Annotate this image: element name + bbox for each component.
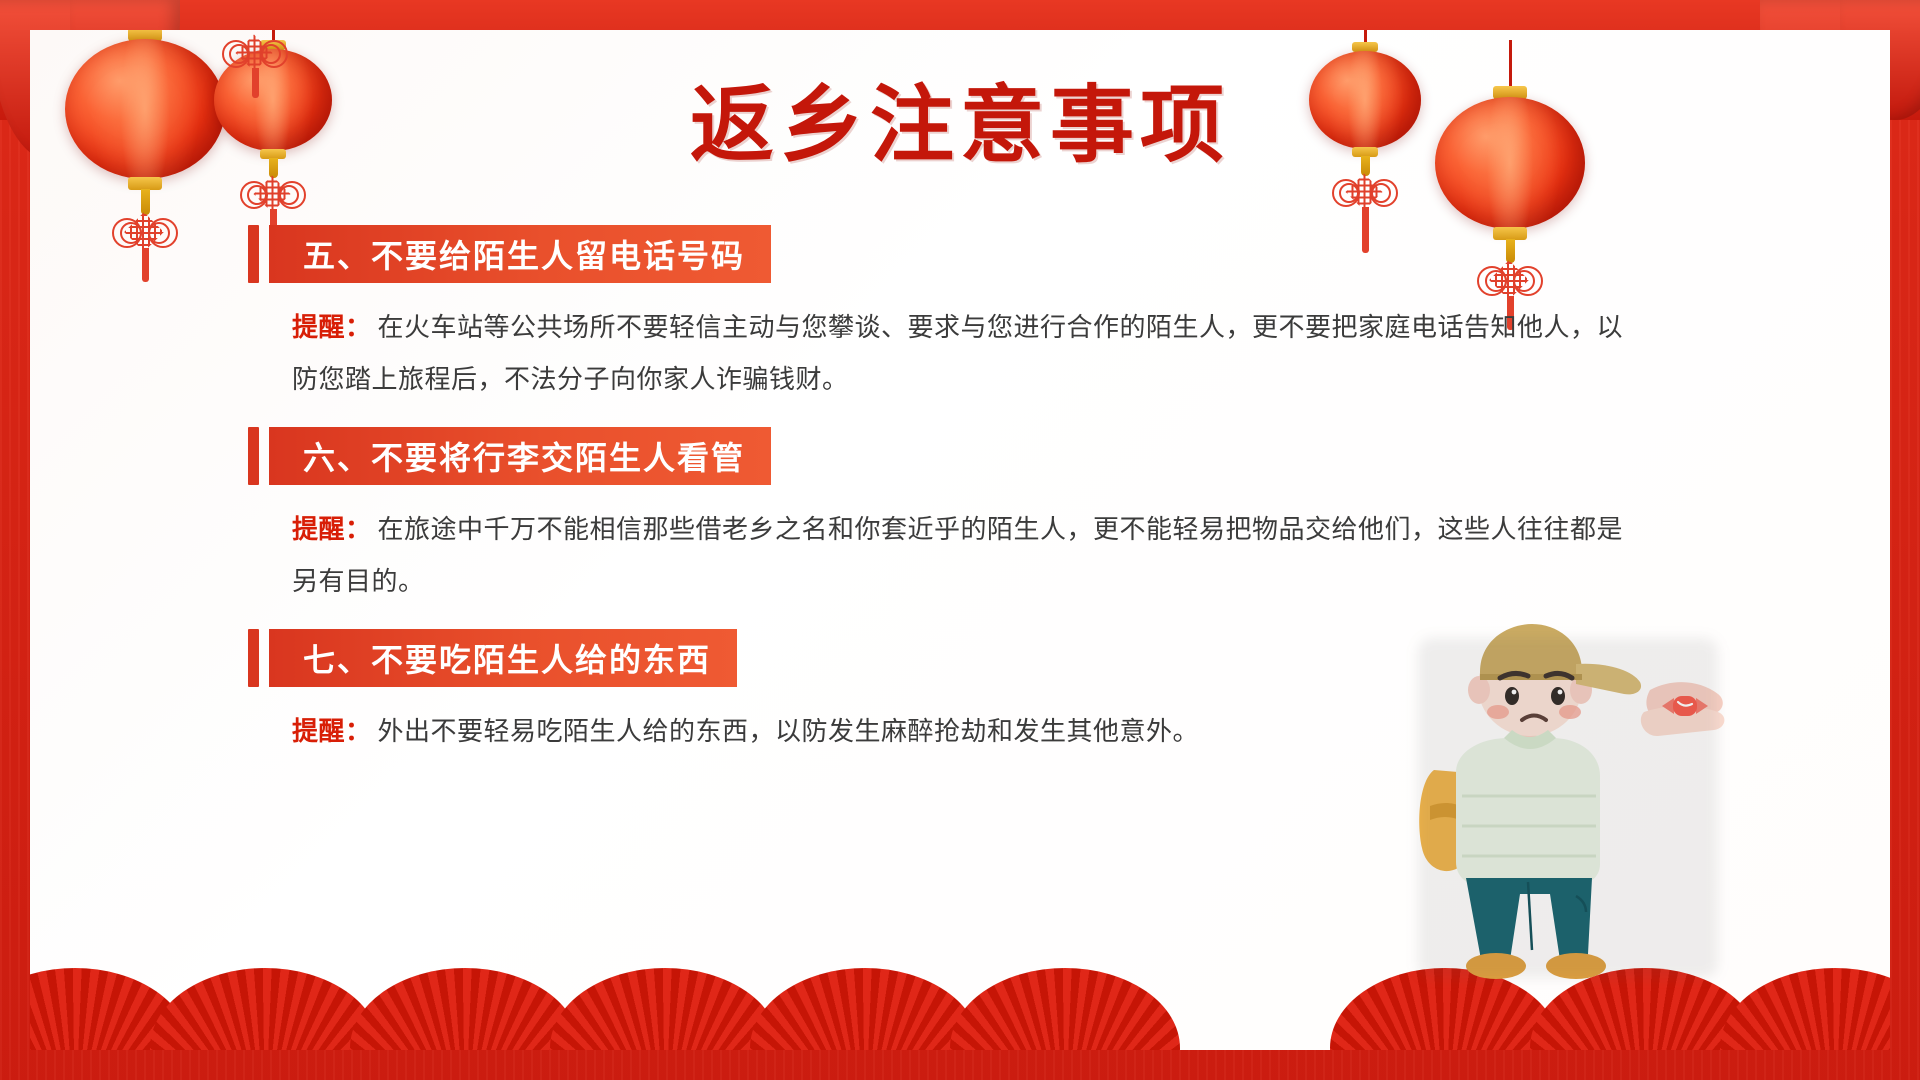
paper-fan-icon (150, 968, 380, 1050)
section-body: 提醒：在旅途中千万不能相信那些借老乡之名和你套近乎的陌生人，更不能轻易把物品交给… (292, 503, 1632, 607)
section-heading-text: 七、不要吃陌生人给的东西 (269, 629, 737, 687)
paper-fan-icon (950, 968, 1180, 1050)
tip-body-text: 外出不要轻易吃陌生人给的东西，以防发生麻醉抢劫和发生其他意外。 (378, 716, 1200, 746)
tip-body-text: 在旅途中千万不能相信那些借老乡之名和你套近乎的陌生人，更不能轻易把物品交给他们，… (292, 514, 1623, 596)
section-item: 六、不要将行李交陌生人看管 提醒：在旅途中千万不能相信那些借老乡之名和你套近乎的… (248, 427, 1668, 607)
heading-tick-mark (248, 225, 259, 283)
heading-tick-mark (248, 629, 259, 687)
paper-fan-icon (550, 968, 780, 1050)
slide-root: 返乡注意事项 五、不要给陌生人留电话号码 提醒：在火车站等公共场所不要轻信主动与… (0, 0, 1920, 1080)
section-item: 五、不要给陌生人留电话号码 提醒：在火车站等公共场所不要轻信主动与您攀谈、要求与… (248, 225, 1668, 405)
section-body: 提醒：在火车站等公共场所不要轻信主动与您攀谈、要求与您进行合作的陌生人，更不要把… (292, 301, 1632, 405)
section-heading-bar: 五、不要给陌生人留电话号码 (248, 225, 1668, 283)
illustration-shadow (1418, 638, 1718, 978)
tip-body-text: 在火车站等公共场所不要轻信主动与您攀谈、要求与您进行合作的陌生人，更不要把家庭电… (292, 312, 1623, 394)
section-heading-bar: 六、不要将行李交陌生人看管 (248, 427, 1668, 485)
paper-fan-icon (750, 968, 980, 1050)
section-heading-text: 六、不要将行李交陌生人看管 (269, 427, 771, 485)
paper-fan-icon (1720, 968, 1890, 1050)
page-title: 返乡注意事项 (0, 58, 1920, 179)
paper-fan-icon (1330, 968, 1560, 1050)
paper-fan-icon (350, 968, 580, 1050)
tip-label: 提醒： (292, 716, 372, 746)
tip-label: 提醒： (292, 514, 372, 544)
tip-label: 提醒： (292, 312, 372, 342)
section-heading-text: 五、不要给陌生人留电话号码 (269, 225, 771, 283)
chinese-knot-icon (110, 212, 180, 302)
heading-tick-mark (248, 427, 259, 485)
cartoon-boy-illustration (1400, 620, 1730, 980)
